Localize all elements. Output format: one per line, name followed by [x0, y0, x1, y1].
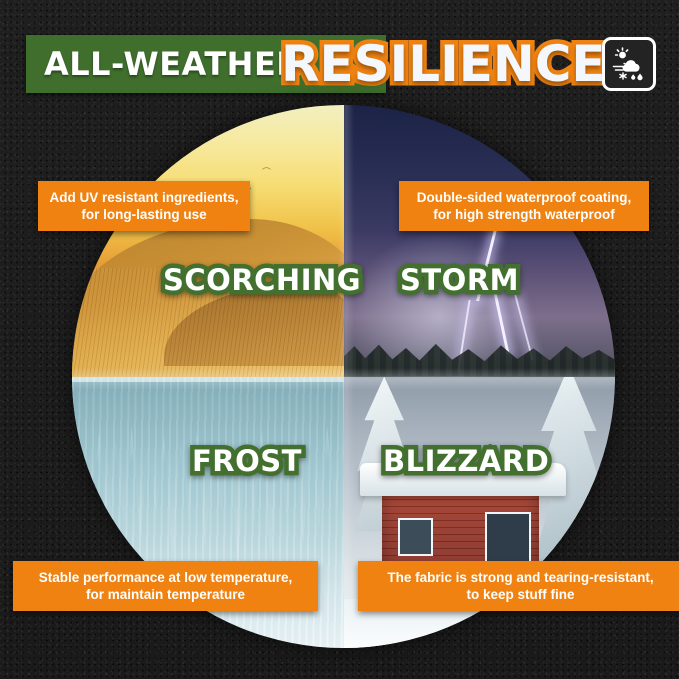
- header-banner: ALL-WEATHER RESILIENCE: [26, 35, 656, 93]
- callout-storm: Double-sided waterproof coating, for hig…: [399, 181, 649, 231]
- header-title-all-weather: ALL-WEATHER: [44, 45, 301, 83]
- header-title-resilience: RESILIENCE: [281, 31, 606, 97]
- cabin-window-shape: [485, 512, 531, 566]
- callout-scorching: Add UV resistant ingredients, for long-l…: [38, 181, 250, 231]
- infographic-canvas: ALL-WEATHER RESILIENCE: [0, 0, 679, 679]
- callout-blizzard: The fabric is strong and tearing-resista…: [358, 561, 679, 611]
- bird-silhouette-icon: ︵: [262, 159, 271, 172]
- callout-frost: Stable performance at low temperature, f…: [13, 561, 318, 611]
- cabin-window-shape: [398, 518, 433, 556]
- quadrant-label-blizzard: BLIZZARD: [383, 444, 549, 478]
- storm-treeline-silhouette: [344, 339, 616, 377]
- weather-sun-cloud-wind-snow-rain-icon: [602, 37, 656, 91]
- quadrant-label-storm: STORM: [400, 263, 519, 297]
- quadrant-label-frost: FROST: [192, 444, 302, 478]
- quadrant-scorching-scene: ︵ ︵: [72, 105, 344, 377]
- quadrant-storm-scene: [344, 105, 616, 377]
- quadrant-label-scorching: SCORCHING: [163, 263, 361, 297]
